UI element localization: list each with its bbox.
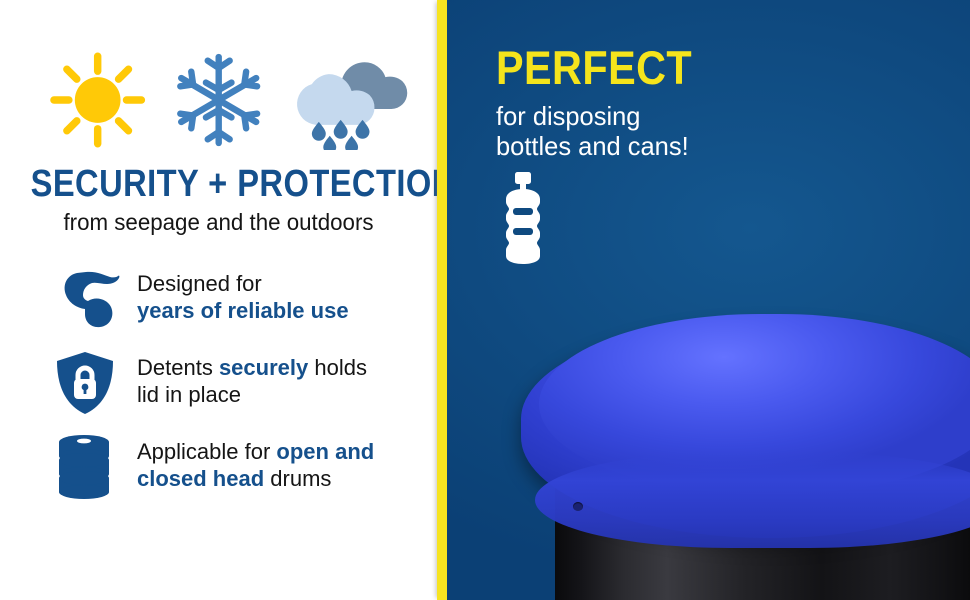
rain-cloud-icon <box>291 50 408 150</box>
water-bottle-icon <box>499 172 547 264</box>
feature-post: holds <box>308 355 367 380</box>
list-item-text: Designed for years of reliable use <box>137 268 349 324</box>
list-item-text: Applicable for open and closed head drum… <box>137 436 374 492</box>
feature-bold: open and <box>276 439 374 464</box>
list-item: Detents securely holds lid in place <box>55 352 430 414</box>
shield-lock-icon <box>55 351 115 415</box>
list-item: Designed for years of reliable use <box>55 268 430 330</box>
feature-post: drums <box>264 466 331 491</box>
water-bottle-icon-wrap <box>499 172 547 269</box>
page-title: SECURITY + PROTECTION <box>31 163 407 205</box>
drum-lid-rim <box>535 452 970 548</box>
left-panel: SECURITY + PROTECTION from seepage and t… <box>0 0 437 600</box>
sun-icon <box>48 50 147 150</box>
vent-hole <box>573 502 583 511</box>
right-subtitle-line-2: bottles and cans! <box>496 131 714 161</box>
feature-list: Designed for years of reliable use <box>55 268 430 520</box>
feature-bold: securely <box>219 355 308 380</box>
right-copy-block: PERFECT for disposing bottles and cans! <box>496 44 719 161</box>
feature-icon-slot <box>55 436 137 498</box>
product-feature-banner: SECURITY + PROTECTION from seepage and t… <box>0 0 970 600</box>
feature-bold-2: closed head <box>137 466 264 491</box>
list-item-text: Detents securely holds lid in place <box>137 352 367 408</box>
page-subtitle: from seepage and the outdoors <box>7 208 431 236</box>
feature-icon-slot <box>55 352 137 414</box>
weather-icon-row <box>48 44 408 156</box>
flexed-bicep-icon <box>55 270 123 328</box>
feature-line-2: lid in place <box>137 382 241 407</box>
drum-icon <box>55 434 113 500</box>
right-panel: PERFECT for disposing bottles and cans! <box>447 0 970 600</box>
list-item: Applicable for open and closed head drum… <box>55 436 430 498</box>
feature-pre: Detents <box>137 355 219 380</box>
right-headline: PERFECT <box>496 44 692 92</box>
headline-block: SECURITY + PROTECTION from seepage and t… <box>0 163 437 236</box>
yellow-divider <box>437 0 447 600</box>
right-subtitle-line-1: for disposing <box>496 101 714 131</box>
feature-line-1: Designed for <box>137 271 262 296</box>
feature-pre: Applicable for <box>137 439 276 464</box>
feature-line-2-bold: years of reliable use <box>137 298 349 323</box>
snowflake-icon <box>173 51 264 149</box>
feature-icon-slot <box>55 268 137 330</box>
